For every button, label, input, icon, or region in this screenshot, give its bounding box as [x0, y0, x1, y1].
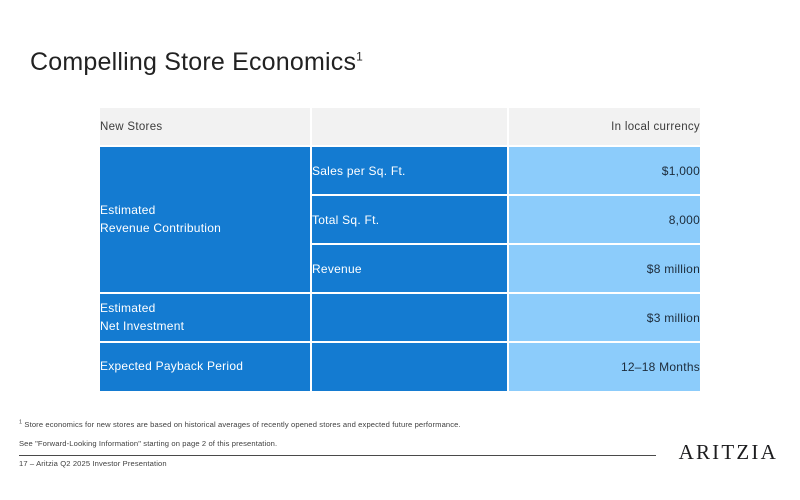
table-header-row: New Stores In local currency	[100, 108, 700, 146]
category-estimated-net-investment: Estimated Net Investment	[100, 293, 311, 342]
table-header-new-stores: New Stores	[100, 108, 311, 146]
table-row: Estimated Net Investment $3 million	[100, 293, 700, 342]
category-label-line1: Estimated	[100, 300, 310, 317]
category-estimated-revenue-contribution: Estimated Revenue Contribution	[100, 146, 311, 293]
footnote-1: 1 Store economics for new stores are bas…	[19, 420, 461, 429]
table-row: Estimated Revenue Contribution Sales per…	[100, 146, 700, 195]
table-header-middle	[311, 108, 508, 146]
category-label-line1: Estimated	[100, 202, 310, 219]
value-net-investment: $3 million	[508, 293, 700, 342]
page-title-text: Compelling Store Economics	[30, 48, 356, 76]
value-payback-period: 12–18 Months	[508, 342, 700, 391]
footnote-2: See "Forward-Looking Information" starti…	[19, 439, 277, 448]
metric-sales-per-sq-ft: Sales per Sq. Ft.	[311, 146, 508, 195]
metric-net-investment-blank	[311, 293, 508, 342]
table-header-in-local-currency: In local currency	[508, 108, 700, 146]
value-total-sq-ft: 8,000	[508, 195, 700, 244]
aritzia-logo: ARITZIA	[679, 440, 778, 465]
page-title: Compelling Store Economics1	[30, 48, 363, 77]
value-sales-per-sq-ft: $1,000	[508, 146, 700, 195]
table-row: Expected Payback Period 12–18 Months	[100, 342, 700, 391]
footer-divider	[19, 455, 656, 456]
metric-payback-blank	[311, 342, 508, 391]
category-label-line2: Revenue Contribution	[100, 220, 310, 237]
category-label-line1: Expected Payback Period	[100, 358, 310, 375]
store-economics-table: New Stores In local currency Estimated R…	[100, 108, 700, 391]
metric-total-sq-ft: Total Sq. Ft.	[311, 195, 508, 244]
category-expected-payback-period: Expected Payback Period	[100, 342, 311, 391]
value-revenue: $8 million	[508, 244, 700, 293]
footnote-1-text: Store economics for new stores are based…	[22, 420, 461, 429]
page-label: 17 – Aritzia Q2 2025 Investor Presentati…	[19, 459, 167, 468]
page-title-footnote-marker: 1	[356, 50, 363, 64]
category-label-line2: Net Investment	[100, 318, 310, 335]
metric-revenue: Revenue	[311, 244, 508, 293]
